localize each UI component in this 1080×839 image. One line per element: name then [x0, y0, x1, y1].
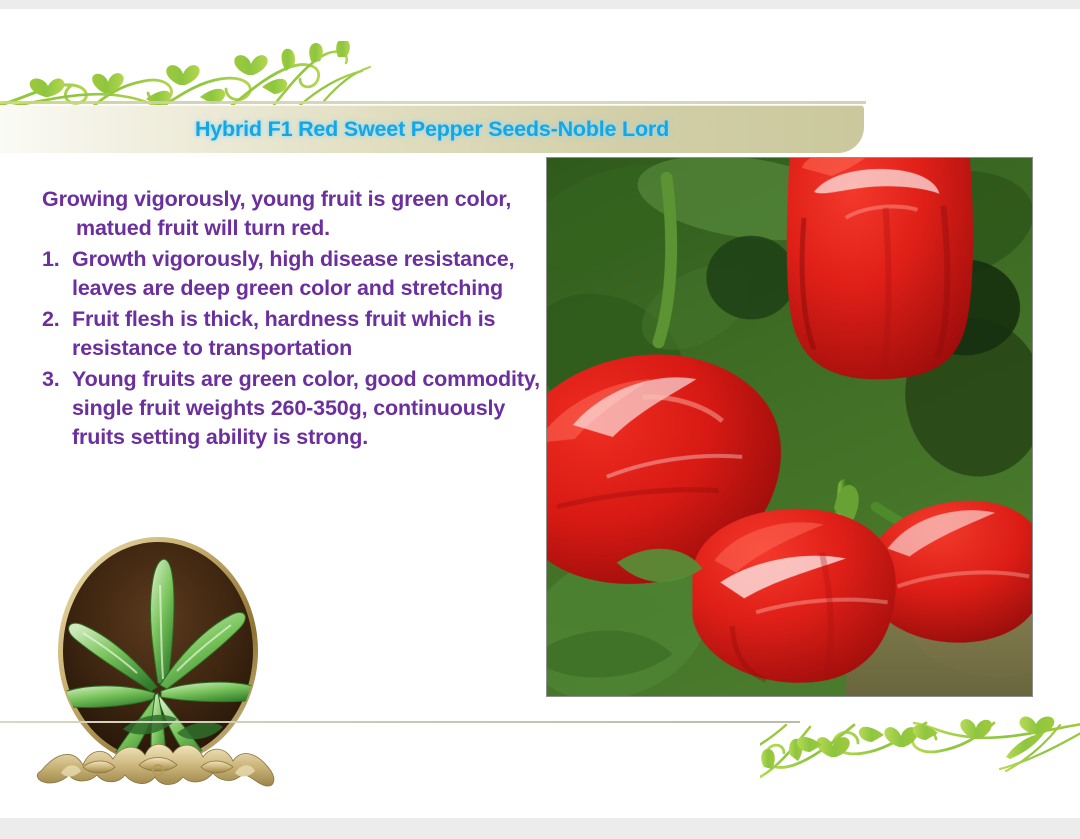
bottom-rule: [0, 721, 800, 723]
lead-paragraph: Growing vigorously, young fruit is green…: [42, 185, 542, 243]
viewer-top-strip: [0, 0, 1080, 9]
list-marker: 2.: [42, 305, 72, 334]
list-item: 2.Fruit flesh is thick, hardness fruit w…: [42, 305, 542, 363]
page-title: Hybrid F1 Red Sweet Pepper Seeds-Noble L…: [0, 105, 864, 153]
title-top-rule: [0, 101, 866, 104]
list-item: 3.Young fruits are green color, good com…: [42, 365, 542, 452]
viewer-bottom-strip: [0, 818, 1080, 839]
list-marker: 3.: [42, 365, 72, 394]
bottom-flourish-decoration: [760, 715, 1080, 787]
list-item: 1.Growth vigorously, high disease resist…: [42, 245, 542, 303]
description-block: Growing vigorously, young fruit is green…: [42, 185, 542, 454]
oval-plant-logo: [27, 533, 289, 795]
list-item-text: Fruit flesh is thick, hardness fruit whi…: [72, 307, 495, 360]
slide-root: Hybrid F1 Red Sweet Pepper Seeds-Noble L…: [0, 0, 1080, 839]
list-marker: 1.: [42, 245, 72, 274]
slide-canvas: Hybrid F1 Red Sweet Pepper Seeds-Noble L…: [0, 9, 1080, 818]
list-item-text: Growth vigorously, high disease resistan…: [72, 247, 514, 300]
red-sweet-pepper-photo: [546, 157, 1033, 697]
list-item-text: Young fruits are green color, good commo…: [72, 367, 540, 449]
